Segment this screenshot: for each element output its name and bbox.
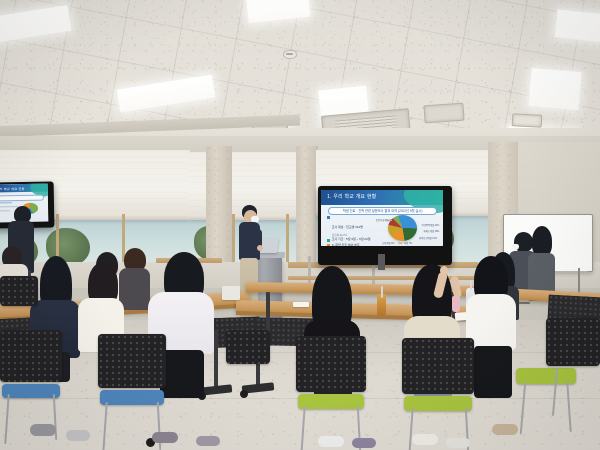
pie-label: 기타 / 미정 7% bbox=[398, 241, 412, 245]
student-legs bbox=[474, 346, 512, 398]
chair[interactable] bbox=[546, 318, 600, 414]
chair-leg bbox=[300, 406, 305, 450]
shoe bbox=[446, 438, 470, 448]
slide-content: 1. 우리 학교 개요 현황 학생 진로 · 진학 관련 설문조사 결과 요약 … bbox=[321, 190, 443, 246]
secondary-slide-line bbox=[0, 202, 12, 203]
classroom-photo: 우리 학교 개요 현황 1. 우리 학교 개요 현황 학생 진로 · 진학 관련… bbox=[0, 0, 600, 450]
pie-label: 예체능계열 18% bbox=[424, 229, 440, 233]
exit-sign-icon bbox=[512, 113, 543, 128]
chair-seat bbox=[298, 394, 364, 409]
chair[interactable] bbox=[402, 338, 474, 448]
pie-leader-line bbox=[386, 220, 392, 221]
bullet-text: 1) 희망 진로 분야 분포 bbox=[332, 244, 360, 246]
tv-screen: 1. 우리 학교 개요 현황 학생 진로 · 진학 관련 설문조사 결과 요약 … bbox=[321, 190, 443, 246]
chair[interactable] bbox=[98, 334, 166, 444]
shoe bbox=[152, 432, 178, 443]
presentation-tv[interactable]: 1. 우리 학교 개요 현황 학생 진로 · 진학 관련 설문조사 결과 요약 … bbox=[318, 186, 452, 265]
secondary-slide-title: 우리 학교 개요 현황 bbox=[0, 186, 25, 191]
slide-bullet: 조사 기간 : 5월 9일 ~ 5월 20일 bbox=[327, 238, 376, 241]
shoe bbox=[318, 436, 344, 447]
chair-back bbox=[0, 330, 62, 382]
wall-column bbox=[206, 146, 232, 264]
bullet-marker-icon bbox=[327, 216, 330, 219]
ceiling-light bbox=[528, 68, 581, 110]
bullet-marker-icon bbox=[327, 239, 330, 242]
chair-leg bbox=[4, 394, 9, 444]
chair-back bbox=[226, 330, 270, 364]
chair-leg bbox=[102, 402, 108, 450]
shoe bbox=[196, 436, 220, 446]
secondary-slide-header: 우리 학교 개요 현황 bbox=[0, 184, 48, 193]
chair[interactable] bbox=[0, 330, 62, 440]
chair[interactable] bbox=[0, 276, 40, 332]
slide-bullet-list: 조사 대상 : 전교생 312명 응답률 94.2% 조사 기간 : 5월 9일… bbox=[327, 215, 376, 246]
ceiling-panel bbox=[423, 103, 464, 124]
smoke-detector-icon bbox=[283, 50, 297, 59]
chair-seat bbox=[404, 396, 472, 411]
bullet-text: 조사 대상 : 전교생 312명 bbox=[332, 225, 363, 229]
slide-bullet: 1) 희망 진로 분야 분포 bbox=[327, 244, 376, 246]
tv-mount-stem bbox=[378, 254, 385, 270]
slide-title: 1. 우리 학교 개요 현황 bbox=[327, 193, 376, 200]
student-hand bbox=[440, 266, 448, 275]
slide-header-bar: 1. 우리 학교 개요 현황 bbox=[321, 190, 443, 205]
chair-back bbox=[546, 318, 600, 366]
chair-back bbox=[402, 338, 474, 394]
secondary-slide-callout bbox=[0, 195, 44, 202]
slide-bullet: 조사 대상 : 전교생 312명 bbox=[327, 215, 376, 233]
wall-column bbox=[296, 146, 318, 266]
chair[interactable] bbox=[226, 330, 270, 400]
pie-label: 의약보건계열 13% bbox=[419, 236, 437, 240]
chair-leg bbox=[520, 382, 527, 434]
ceiling-light bbox=[555, 9, 600, 42]
shoe bbox=[30, 424, 56, 436]
chair-seat bbox=[100, 390, 164, 405]
drink-straw bbox=[381, 286, 383, 298]
face-mask bbox=[512, 244, 519, 250]
chair-back bbox=[296, 336, 366, 392]
bullet-marker-icon bbox=[327, 244, 330, 246]
shoe bbox=[492, 424, 518, 435]
chair-seat bbox=[2, 384, 60, 398]
student-legs bbox=[160, 350, 204, 398]
chair-back bbox=[98, 334, 166, 388]
pie-leader-line bbox=[425, 224, 430, 225]
slide-pie-chart: 인문사회계열 31% 자연공학계열 22% 예체능계열 18% 의약보건계열 1… bbox=[377, 214, 438, 244]
shoe bbox=[352, 438, 376, 448]
chair[interactable] bbox=[296, 336, 366, 448]
chair-leg bbox=[408, 408, 413, 450]
chair-back bbox=[0, 276, 38, 306]
pie-label: 교육계열 9% bbox=[382, 241, 394, 245]
chair-leg bbox=[552, 368, 558, 416]
participant-hair bbox=[532, 226, 552, 256]
presenter-hand bbox=[257, 245, 263, 251]
shoe bbox=[66, 430, 90, 441]
handout-paper bbox=[222, 286, 240, 300]
bullet-text: 조사 기간 : 5월 9일 ~ 5월 20일 bbox=[332, 238, 371, 241]
shoe bbox=[412, 434, 438, 445]
